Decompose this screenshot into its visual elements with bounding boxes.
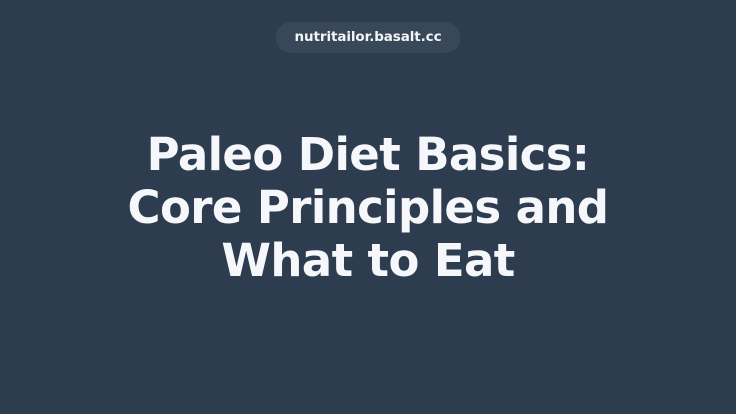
page-title-line-2: Core Principles and (128, 181, 609, 234)
page-title-line-1: Paleo Diet Basics: (128, 128, 609, 181)
share-card: nutritailor.basalt.cc Paleo Diet Basics:… (0, 0, 736, 414)
page-title: Paleo Diet Basics: Core Principles and W… (128, 128, 609, 287)
page-title-line-3: What to Eat (128, 234, 609, 287)
headline-container: Paleo Diet Basics: Core Principles and W… (0, 0, 736, 414)
